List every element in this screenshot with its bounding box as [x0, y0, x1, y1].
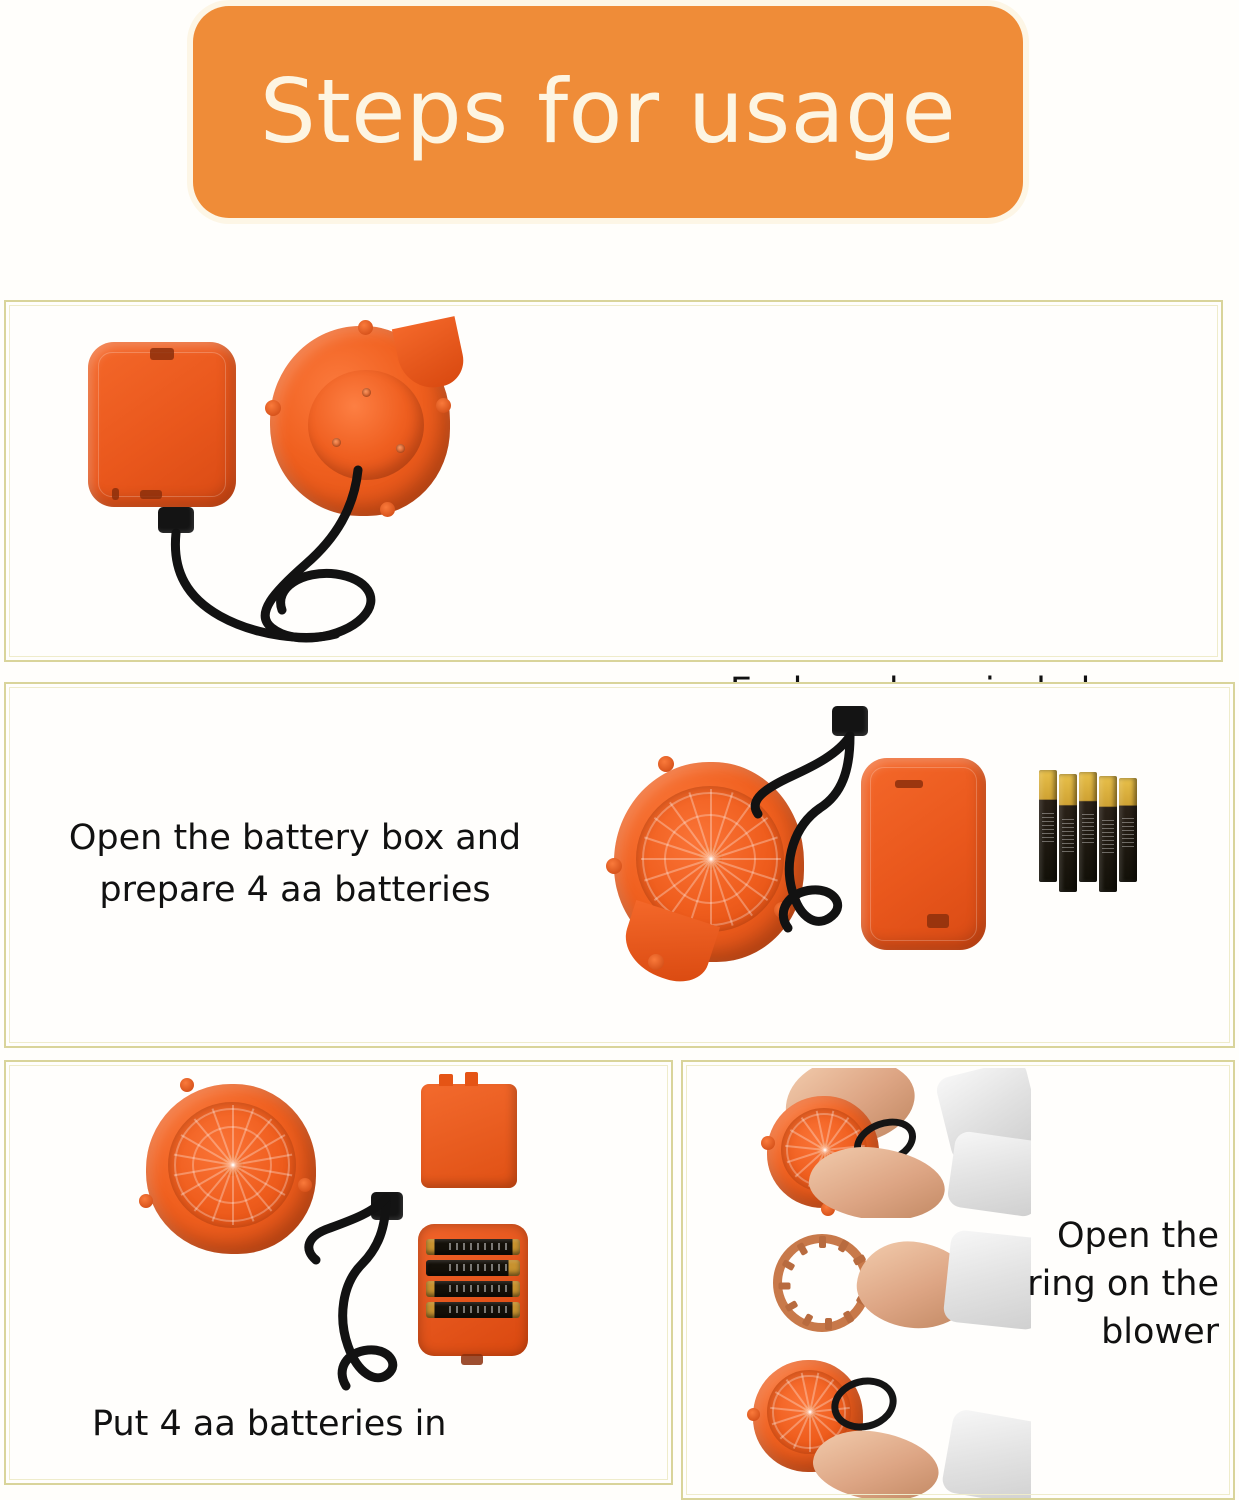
panel3-line1: Put 4 aa batteries in	[92, 1402, 447, 1447]
panel-insert-batteries: Put 4 aa batteries in	[4, 1060, 673, 1485]
panel4-line1: Open the	[983, 1214, 1219, 1259]
page-title: Steps for usage	[260, 68, 956, 156]
panel4-line2: ring on the	[983, 1262, 1219, 1307]
infographic-page: Steps for usage	[0, 0, 1239, 1500]
panel2-line1: Open the battery box and	[50, 816, 540, 861]
aa-batteries-art	[1039, 770, 1137, 888]
hand-holding-ring-art	[701, 1228, 1031, 1348]
hands-blower-ring-removed-art	[701, 1358, 1031, 1498]
panel-package-contents: Each package includes a blower, a batter…	[4, 300, 1223, 662]
panel-open-battery-box: Open the battery box and prepare 4 aa ba…	[4, 682, 1235, 1048]
hands-holding-blower-art	[701, 1068, 1031, 1218]
panel4-line3: blower	[983, 1310, 1219, 1355]
title-banner: Steps for usage	[193, 6, 1023, 218]
panel2-line2: prepare 4 aa batteries	[50, 868, 540, 913]
panel-open-ring: Open the ring on the blower	[681, 1060, 1235, 1500]
power-cable-art	[606, 684, 926, 984]
power-cable-art	[6, 302, 526, 662]
